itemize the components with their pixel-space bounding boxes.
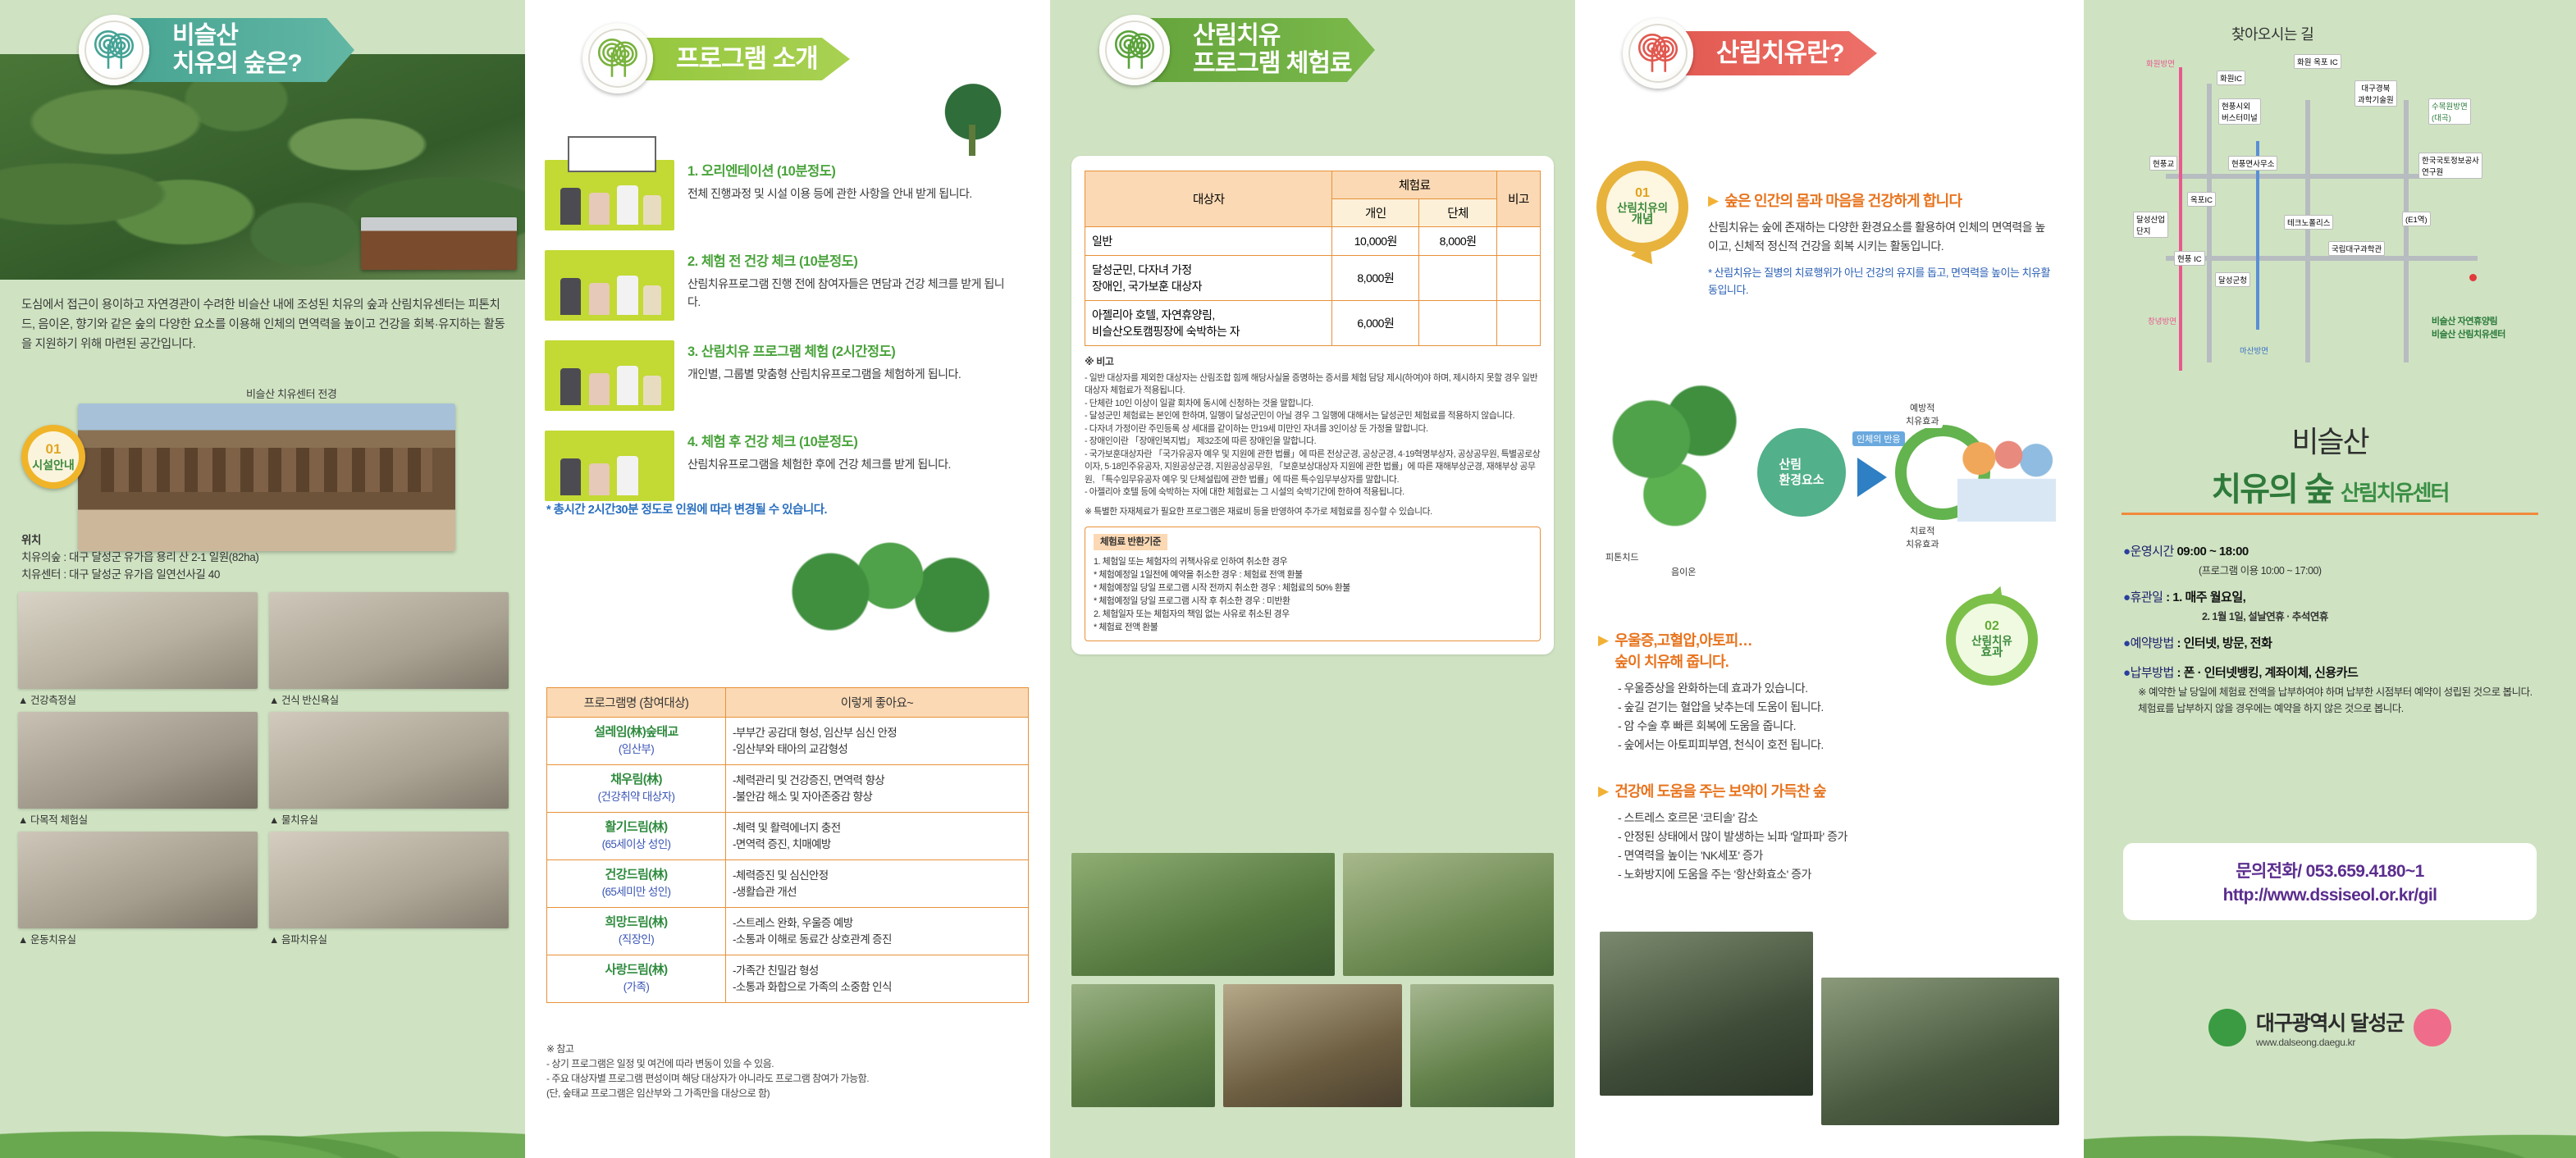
info-sub: (프로그램 이용 10:00 ~ 17:00) bbox=[2123, 563, 2542, 579]
map-label: 한국국토정보공사 연구원 bbox=[2418, 153, 2482, 179]
benefit-item: - 스트레스 호르몬 '코티솔' 감소 bbox=[1618, 809, 1967, 827]
program-table-header-benefit: 이렇게 좋아요~ bbox=[726, 688, 1029, 718]
tree-group-decor bbox=[771, 533, 1009, 640]
map-label: 국립대구과학관 bbox=[2328, 241, 2385, 256]
program-benefit: -불안감 해소 및 자아존중감 향상 bbox=[733, 789, 1021, 805]
refund-title: 체험료 반환기준 bbox=[1094, 534, 1167, 550]
fee-group bbox=[1419, 256, 1497, 301]
info-item: ●운영시간 09:00 ~ 18:00 (프로그램 이용 10:00 ~ 17:… bbox=[2123, 541, 2542, 579]
concept-note: * 산림치유는 질병의 치료행위가 아닌 건강의 유지를 돕고, 면역력을 높이… bbox=[1708, 264, 2053, 299]
facility-photo-grid: ▲ 건강측정실 ▲ 건식 반신욕실 ▲ 다목적 체험실 ▲ 물치유실 bbox=[18, 592, 509, 951]
info-item: ●예약방법 : 인터넷, 방문, 전화 bbox=[2123, 633, 2542, 654]
program-target: (임산부) bbox=[619, 743, 654, 755]
program-step: 2. 체험 전 건강 체크 (10분정도) 산림치유프로그램 진행 전에 참여자… bbox=[545, 250, 1012, 321]
map-label: 창녕방면 bbox=[2148, 315, 2176, 326]
diagram-trees bbox=[1605, 367, 1761, 572]
location-line-1: 치유의숲 : 대구 달성군 유가읍 용리 산 2-1 일원(82ha) bbox=[21, 549, 258, 566]
effect-item: - 우울증상을 완화하는데 효과가 있습니다. bbox=[1618, 679, 1943, 698]
building-photo bbox=[78, 403, 455, 551]
fee-remark bbox=[1496, 301, 1540, 346]
facility-caption: ▲ 건식 반신욕실 bbox=[269, 691, 509, 707]
gov-name: 대구광역시 달성군 bbox=[2256, 1007, 2404, 1037]
diagram-cycle-label: 치료적 치유효과 bbox=[1902, 523, 1943, 551]
info-sub: 2. 1월 1일, 설날연휴 · 추석연휴 bbox=[2123, 609, 2542, 625]
location-heading: 위치 bbox=[21, 531, 258, 549]
bullet-icon: ● bbox=[2123, 545, 2131, 558]
table-row: 일반 10,000원 8,000원 bbox=[1085, 227, 1541, 256]
map-title: 찾아오시는 길 bbox=[2231, 23, 2313, 44]
activity-photo bbox=[1071, 853, 1335, 976]
map-label: 화원방면 bbox=[2146, 57, 2175, 69]
program-benefit: -생활습관 개선 bbox=[733, 884, 1021, 900]
map-road bbox=[2207, 84, 2212, 362]
facility-item: ▲ 음파치유실 bbox=[269, 832, 509, 946]
info-label: 납부방법 bbox=[2131, 666, 2174, 680]
table-row: 희망드림(林) (직장인) -스트레스 완화, 우울증 예방 -소통과 이해로 … bbox=[547, 908, 1029, 955]
panel1-intro-text: 도심에서 접근이 용이하고 자연경관이 수려한 비슬산 내에 조성된 치유의 숲… bbox=[21, 295, 505, 354]
program-benefit: -소통과 이해로 동료간 상호관계 증진 bbox=[733, 932, 1021, 948]
fee-remark bbox=[1496, 227, 1540, 256]
fee-target: 달성군민, 다자녀 가정 장애인, 국가보훈 대상자 bbox=[1085, 256, 1332, 301]
map-label: 마산방면 bbox=[2240, 344, 2268, 356]
table-row: 건강드림(林) (65세미만 성인) -체력증진 및 심신안정 -생활습관 개선 bbox=[547, 860, 1029, 908]
benefit-item: - 면역력을 높이는 'NK세포' 증가 bbox=[1618, 846, 1967, 865]
fee-individual: 6,000원 bbox=[1332, 301, 1419, 346]
facility-photo bbox=[269, 592, 509, 689]
map-label: 수목원방면 (대곡) bbox=[2428, 98, 2471, 125]
concept-bubble: 01 산림치유의 개념 bbox=[1596, 161, 1688, 253]
info-value: : 인터넷, 방문, 전화 bbox=[2176, 636, 2272, 650]
fee-header-remark: 비고 bbox=[1496, 171, 1540, 227]
program-duration-note: * 총시간 2시간30분 정도로 인원에 따라 변경될 수 있습니다. bbox=[546, 500, 827, 517]
bullet-icon: ● bbox=[2123, 590, 2131, 604]
visitor-info-list: ●운영시간 09:00 ~ 18:00 (프로그램 이용 10:00 ~ 17:… bbox=[2123, 541, 2542, 717]
logo-badge-green bbox=[582, 23, 653, 93]
diagram-tag: 피톤치드 bbox=[1601, 549, 1642, 564]
program-benefit: -부부간 공감대 형성, 임산부 심신 안정 bbox=[733, 725, 1021, 741]
program-name: 사랑드림(林) bbox=[554, 961, 719, 978]
fee-header-individual: 개인 bbox=[1332, 199, 1419, 227]
footnote-line: ※ 참고 bbox=[546, 1042, 869, 1056]
panel-program-intro: 프로그램 소개 1. 오리엔테이션 (10분정도) 전체 진행과정 및 시설 이… bbox=[525, 0, 1050, 1158]
fee-individual: 8,000원 bbox=[1332, 256, 1419, 301]
activity-photo bbox=[1071, 984, 1215, 1107]
diagram-tag: 음이온 bbox=[1667, 564, 1700, 579]
effects-heading-row: ▶ 우울증,고혈압,아토피… 숲이 치유해 줍니다. bbox=[1598, 630, 1943, 672]
table-row: 활기드림(林) (65세이상 성인) -체력 및 활력에너지 충전 -면역력 증… bbox=[547, 813, 1029, 860]
program-target: (65세미만 성인) bbox=[602, 886, 671, 898]
effect-item: - 숲길 걷기는 혈압을 낮추는데 도움이 됩니다. bbox=[1618, 698, 1943, 717]
step-desc: 개인별, 그룹별 맞춤형 산림치유프로그램을 체험하게 됩니다. bbox=[687, 365, 1012, 383]
map-label: 달성산업 단지 bbox=[2133, 212, 2168, 238]
facility-caption: ▲ 운동치유실 bbox=[18, 931, 258, 946]
info-sub: ※ 예약한 날 당일에 체험료 전액을 납부하여야 하며 납부한 시점부터 예약… bbox=[2123, 684, 2542, 717]
triangle-marker-icon: ▶ bbox=[1598, 630, 1608, 651]
brand-block: 비슬산 치유의 숲 산림치유센터 bbox=[2084, 418, 2576, 510]
facility-photo bbox=[18, 592, 258, 689]
hero-forest-photo bbox=[0, 54, 525, 280]
map-destination-label: 비슬산 자연휴양림 비슬산 산림치유센터 bbox=[2432, 315, 2505, 341]
activity-photo bbox=[1410, 984, 1554, 1107]
footnote-line: - 주요 대상자별 프로그램 편성이며 해당 대상자가 아니라도 프로그램 참여… bbox=[546, 1071, 869, 1086]
map-road bbox=[2404, 100, 2409, 362]
contact-url[interactable]: http://www.dssiseol.or.kr/gil bbox=[2141, 886, 2519, 905]
panel-facility-intro: 비슬산 치유의 숲은? 도심에서 접근이 용이하고 자연경관이 수려한 비슬산 … bbox=[0, 0, 525, 1158]
location-line-2: 치유센터 : 대구 달성군 유가읍 일연선사길 40 bbox=[21, 566, 258, 583]
step-title: 1. 오리엔테이션 (10분정도) bbox=[687, 160, 1012, 180]
panel3-ribbon-line1: 산림치유 bbox=[1193, 22, 1375, 50]
fee-header-fee: 체험료 bbox=[1332, 171, 1497, 199]
facility-badge: 01 시설안내 bbox=[21, 425, 85, 489]
benefit-item: - 안정된 상태에서 많이 발생하는 뇌파 '알파파' 증가 bbox=[1618, 827, 1967, 846]
refund-line: * 체험예정일 1일전에 예약을 취소한 경우 : 체험료 전액 환불 bbox=[1094, 568, 1532, 581]
fee-table: 대상자 체험료 비고 개인 단체 일반 10,000원 8,000원 bbox=[1085, 171, 1541, 346]
fee-group bbox=[1419, 301, 1497, 346]
map-highway-pink bbox=[2179, 67, 2182, 371]
facility-photo bbox=[269, 712, 509, 809]
facility-item: ▲ 건식 반신욕실 bbox=[269, 592, 509, 707]
map-label: 화원 옥포 IC bbox=[2294, 54, 2341, 69]
building-caption: 비슬산 치유센터 전경 bbox=[246, 385, 336, 401]
panel3-ribbon-line2: 프로그램 체험료 bbox=[1193, 50, 1375, 78]
program-name: 설레임(林)숲태교 bbox=[554, 723, 719, 741]
step-illustration bbox=[545, 250, 674, 321]
diagram-cycle-label: 예방적 치유효과 bbox=[1902, 400, 1943, 428]
program-step: 4. 체험 후 건강 체크 (10분정도) 산림치유프로그램을 체험한 후에 건… bbox=[545, 431, 1012, 501]
refund-line: * 체험예정일 당일 프로그램 시작 전까지 취소한 경우 : 체험료의 50%… bbox=[1094, 581, 1532, 595]
facility-caption: ▲ 다목적 체험실 bbox=[18, 811, 258, 827]
program-target: (건강취약 대상자) bbox=[598, 791, 675, 803]
table-row: 설레임(林)숲태교 (임산부) -부부간 공감대 형성, 임산부 심신 안정 -… bbox=[547, 718, 1029, 765]
concept-body: 산림치유는 숲에 존재하는 다양한 환경요소를 활용하여 인체의 면역력을 높이… bbox=[1708, 218, 2053, 256]
panel-what-is-forest-healing: 산림치유란? 01 산림치유의 개념 ▶ 숲은 인간의 몸과 마음을 건강하게 … bbox=[1575, 0, 2084, 1158]
program-step-list: 1. 오리엔테이션 (10분정도) 전체 진행과정 및 시설 이용 등에 관한 … bbox=[545, 160, 1012, 521]
info-item: ●휴관일 : 1. 매주 월요일, 2. 1월 1일, 설날연휴 · 추석연휴 bbox=[2123, 587, 2542, 625]
footnote-line: - 상기 프로그램은 일정 및 여건에 따라 변동이 있을 수 있음. bbox=[546, 1056, 869, 1071]
step-title: 4. 체험 후 건강 체크 (10분정도) bbox=[687, 431, 1012, 450]
footer-hill-decor bbox=[0, 1107, 525, 1158]
panel1-ribbon-line2: 치유의 숲은? bbox=[172, 50, 354, 78]
fee-card: 대상자 체험료 비고 개인 단체 일반 10,000원 8,000원 bbox=[1071, 156, 1554, 654]
program-name: 채우림(林) bbox=[554, 771, 719, 788]
facility-photo bbox=[18, 712, 258, 809]
refund-line: * 체험료 전액 환불 bbox=[1094, 621, 1532, 634]
info-label: 예약방법 bbox=[2131, 636, 2174, 650]
map-label: 현풍면사무소 bbox=[2228, 156, 2277, 171]
step-desc: 산림치유프로그램을 체험한 후에 건강 체크를 받게 됩니다. bbox=[687, 455, 1012, 473]
table-row: 달성군민, 다자녀 가정 장애인, 국가보훈 대상자 8,000원 bbox=[1085, 256, 1541, 301]
benefits-heading: 건강에 도움을 주는 보약이 가득찬 숲 bbox=[1615, 781, 1825, 802]
activity-photo-grid bbox=[1071, 853, 1554, 1115]
fee-remark bbox=[1496, 256, 1540, 301]
panel2-ribbon-line1: 프로그램 소개 bbox=[676, 45, 850, 73]
facility-badge-label: 시설안내 bbox=[32, 458, 75, 472]
concept-section: ▶ 숲은 인간의 몸과 마음을 건강하게 합니다 산림치유는 숲에 존재하는 다… bbox=[1708, 190, 2053, 299]
program-benefit: -체력증진 및 심신안정 bbox=[733, 868, 1021, 884]
panel4-ribbon-line1: 산림치유란? bbox=[1716, 39, 1877, 67]
panel1-ribbon-line1: 비슬산 bbox=[172, 22, 354, 50]
map-label: 현풍교 bbox=[2149, 156, 2177, 171]
fee-note-line: - 장애인이란 「장애인복지법」 제32조에 따른 장애인을 말합니다. bbox=[1085, 435, 1541, 449]
contact-phone[interactable]: 문의전화/ 053.659.4180~1 bbox=[2141, 858, 2519, 882]
program-table-header-name: 프로그램명 (참여대상) bbox=[547, 688, 726, 718]
info-label: 휴관일 bbox=[2131, 590, 2163, 604]
map-label: 화원IC bbox=[2217, 71, 2245, 85]
info-value: : 1. 매주 월요일, bbox=[2166, 590, 2245, 604]
program-name: 건강드림(林) bbox=[554, 866, 719, 883]
effects-heading-line2: 숲이 치유해 줍니다. bbox=[1615, 651, 1752, 672]
contact-card: 문의전화/ 053.659.4180~1 http://www.dssiseol… bbox=[2123, 843, 2537, 920]
footer-hill-decor bbox=[2084, 1110, 2576, 1158]
fee-note-line: - 다자녀 가정이란 주민등록 상 세대를 같이하는 만19세 미만인 자녀를 … bbox=[1085, 423, 1541, 436]
program-footnotes: ※ 참고 - 상기 프로그램은 일정 및 여건에 따라 변동이 있을 수 있음.… bbox=[546, 1042, 869, 1101]
fee-group: 8,000원 bbox=[1419, 227, 1497, 256]
fee-note-line: - 단체란 10인 이상이 일괄 회차에 동시에 신청하는 것을 말합니다. bbox=[1085, 398, 1541, 411]
program-target: (가족) bbox=[623, 981, 649, 993]
fee-special-note: ※ 특별한 자재체료가 필요한 프로그램은 재료비 등을 반영하여 추가로 체험… bbox=[1085, 506, 1541, 519]
step-title: 3. 산림치유 프로그램 체험 (2시간정도) bbox=[687, 340, 1012, 360]
table-row: 채우림(林) (건강취약 대상자) -체력관리 및 건강증진, 면역력 향상 -… bbox=[547, 765, 1029, 813]
map-label: 현풍시외 버스터미널 bbox=[2218, 98, 2261, 125]
activity-photo bbox=[1821, 978, 2059, 1125]
map-label: 옥포IC bbox=[2187, 192, 2216, 207]
concept-heading-row: ▶ 숲은 인간의 몸과 마음을 건강하게 합니다 bbox=[1708, 190, 2053, 212]
activity-photo bbox=[1223, 984, 1402, 1107]
map-road bbox=[2166, 256, 2478, 261]
step-illustration bbox=[545, 160, 674, 230]
facility-item: ▲ 다목적 체험실 bbox=[18, 712, 258, 827]
location-map: 화원방면 화원 옥포 IC 화원IC 대구경북 과학기술원 현풍시외 버스터미널… bbox=[2133, 51, 2510, 395]
logo-badge-darkgreen bbox=[1099, 15, 1170, 85]
map-label: 현풍 IC bbox=[2174, 251, 2205, 266]
table-row: 아젤리아 호텔, 자연휴양림, 비슬산오토캠핑장에 숙박하는 자 6,000원 bbox=[1085, 301, 1541, 346]
program-name: 희망드림(林) bbox=[554, 914, 719, 931]
diagram-arrow-icon bbox=[1857, 458, 1887, 497]
map-label: 테크노폴리스 bbox=[2284, 215, 2333, 230]
facility-item: ▲ 운동치유실 bbox=[18, 832, 258, 946]
diagram-family-illustration bbox=[1957, 431, 2056, 522]
facility-caption: ▲ 건강측정실 bbox=[18, 691, 258, 707]
brand-line1: 비슬산 bbox=[2084, 418, 2576, 461]
info-label: 운영시간 bbox=[2131, 545, 2174, 558]
step-illustration bbox=[545, 340, 674, 411]
bullet-icon: ● bbox=[2123, 666, 2131, 680]
concept-bubble-num: 01 bbox=[1635, 187, 1650, 201]
dalseong-logo-icon bbox=[2208, 1009, 2246, 1046]
brand-line2-main: 치유의 숲 bbox=[2212, 472, 2333, 508]
step-illustration bbox=[545, 431, 674, 501]
triangle-marker-icon: ▶ bbox=[1708, 190, 1718, 212]
panel-experience-fee: 산림치유 프로그램 체험료 대상자 체험료 비고 개인 단체 bbox=[1050, 0, 1575, 1158]
info-value: : 폰 · 인터넷뱅킹, 계좌이체, 신용카드 bbox=[2176, 666, 2358, 680]
concept-bubble-line2: 개념 bbox=[1632, 214, 1654, 226]
facility-caption: ▲ 물치유실 bbox=[269, 811, 509, 827]
fee-header-group: 단체 bbox=[1419, 199, 1497, 227]
program-benefit: -임산부와 태아의 교감형성 bbox=[733, 741, 1021, 758]
gov-url: www.dalseong.daegu.kr bbox=[2256, 1037, 2404, 1048]
logo-badge-red bbox=[1623, 18, 1693, 89]
map-label: 달성군청 bbox=[2215, 272, 2250, 287]
refund-line: * 체험예정일 당일 프로그램 시작 후 취소한 경우 : 미반환 bbox=[1094, 595, 1532, 608]
map-destination-pin bbox=[2469, 274, 2477, 281]
effect-bubble-num: 02 bbox=[1985, 620, 1999, 634]
refund-line: 2. 체험일자 또는 체험자의 책임 없는 사유로 취소된 경우 bbox=[1094, 608, 1532, 621]
effect-bubble-line2: 효과 bbox=[1981, 647, 2003, 659]
step-desc: 산림치유프로그램 진행 전에 참여자들은 면담과 건강 체크를 받게 됩니다. bbox=[687, 275, 1012, 311]
program-table: 프로그램명 (참여대상) 이렇게 좋아요~ 설레임(林)숲태교 (임산부) -부… bbox=[546, 687, 1029, 1003]
info-item: ●납부방법 : 폰 · 인터넷뱅킹, 계좌이체, 신용카드 ※ 예약한 날 당일… bbox=[2123, 663, 2542, 717]
brand-line2-sub: 산림치유센터 bbox=[2341, 481, 2449, 505]
fee-note-line: - 달성군민 체험료는 본인에 한하며, 일행이 달성군민이 아닐 경우 그 일… bbox=[1085, 410, 1541, 423]
effect-item: - 숲에서는 아토피피부염, 천식이 호전 됩니다. bbox=[1618, 736, 1943, 755]
program-benefit: -면역력 증진, 치매예방 bbox=[733, 837, 1021, 853]
map-label: 대구경북 과학기술원 bbox=[2354, 80, 2397, 107]
facility-item: ▲ 물치유실 bbox=[269, 712, 509, 827]
brochure-sheet: 비슬산 치유의 숲은? 도심에서 접근이 용이하고 자연경관이 수려한 비슬산 … bbox=[0, 0, 2576, 1158]
info-value: 09:00 ~ 18:00 bbox=[2176, 545, 2248, 558]
concept-bubble-line1: 산림치유의 bbox=[1617, 203, 1668, 214]
fee-target: 일반 bbox=[1085, 227, 1332, 256]
program-benefit: -체력 및 활력에너지 충전 bbox=[733, 820, 1021, 837]
table-row: 사랑드림(林) (가족) -가족간 친밀감 형성 -소통과 화합으로 가족의 소… bbox=[547, 955, 1029, 1003]
fee-note-line: - 국가보훈대상자란 「국가유공자 예우 및 지원에 관한 법률」에 따른 전상… bbox=[1085, 449, 1541, 487]
map-label: (E1역) bbox=[2402, 212, 2431, 226]
healing-diagram: 피톤치드 음이온 산림 환경요소 인체의 반응 예방적 치유효과 치료적 치유효… bbox=[1596, 353, 2061, 607]
facility-photo bbox=[18, 832, 258, 928]
bullet-icon: ● bbox=[2123, 636, 2131, 650]
program-name: 활기드림(林) bbox=[554, 818, 719, 836]
diagram-arrow-label: 인체의 반응 bbox=[1852, 431, 1905, 446]
effect-item: - 암 수술 후 빠른 회복에 도움을 줍니다. bbox=[1618, 717, 1943, 736]
benefit-item: - 노화방지에 도움을 주는 '항산화효소' 증가 bbox=[1618, 865, 1967, 884]
step-title: 2. 체험 전 건강 체크 (10분정도) bbox=[687, 250, 1012, 270]
program-benefit: -소통과 화합으로 가족의 소중함 인식 bbox=[733, 979, 1021, 996]
refund-policy-box: 체험료 반환기준 1. 체험일 또는 체험자의 귀책사유로 인하여 취소한 경우… bbox=[1085, 527, 1541, 641]
facility-badge-num: 01 bbox=[46, 442, 62, 456]
triangle-marker-icon: ▶ bbox=[1598, 781, 1608, 802]
tree-decor-icon bbox=[934, 79, 1012, 157]
fee-target: 아젤리아 호텔, 자연휴양림, 비슬산오토캠핑장에 숙박하는 자 bbox=[1085, 301, 1332, 346]
panel-directions-contact: 찾아오시는 길 화원방면 화원 옥포 IC 화원IC 대구경북 과학기술원 현풍… bbox=[2084, 0, 2576, 1158]
step-desc: 전체 진행과정 및 시설 이용 등에 관한 사항을 안내 받게 됩니다. bbox=[687, 185, 1012, 203]
government-logo-block: 대구광역시 달성군 www.dalseong.daegu.kr bbox=[2084, 1007, 2576, 1048]
facility-photo bbox=[269, 832, 509, 928]
activity-photo bbox=[1343, 853, 1554, 976]
program-benefit: -가족간 친밀감 형성 bbox=[733, 963, 1021, 979]
mascot-icon bbox=[2414, 1009, 2451, 1046]
fee-notes-title: ※ 비고 bbox=[1085, 356, 1541, 369]
program-step: 3. 산림치유 프로그램 체험 (2시간정도) 개인별, 그룹별 맞춤형 산림치… bbox=[545, 340, 1012, 411]
program-target: (직장인) bbox=[619, 933, 654, 946]
program-benefit: -스트레스 완화, 우울증 예방 bbox=[733, 915, 1021, 932]
fee-header-target: 대상자 bbox=[1085, 171, 1332, 227]
effects-heading-line1: 우울증,고혈압,아토피… bbox=[1615, 630, 1752, 651]
benefits-heading-row: ▶ 건강에 도움을 주는 보약이 가득찬 숲 bbox=[1598, 781, 1967, 802]
fee-notes: ※ 비고 - 일반 대상자를 제외한 대상자는 산림조합 힘께 해당사실을 증명… bbox=[1085, 356, 1541, 518]
footnote-line: (단, 숲태교 프로그램은 임산부와 그 가족만을 대상으로 함) bbox=[546, 1086, 869, 1101]
diagram-center-label: 산림 환경요소 bbox=[1757, 428, 1846, 517]
brand-divider bbox=[2122, 513, 2538, 515]
refund-line: 1. 체험일 또는 체험자의 귀책사유로 인하여 취소한 경우 bbox=[1094, 555, 1532, 568]
effect-bubble: 02 산림치유 효과 bbox=[1946, 594, 2038, 686]
facility-caption: ▲ 음파치유실 bbox=[269, 931, 509, 946]
health-benefits-section: ▶ 건강에 도움을 주는 보약이 가득찬 숲 - 스트레스 호르몬 '코티솔' … bbox=[1598, 781, 1967, 884]
activity-photo bbox=[1600, 932, 1813, 1096]
program-benefit: -체력관리 및 건강증진, 면역력 향상 bbox=[733, 773, 1021, 789]
program-step: 1. 오리엔테이션 (10분정도) 전체 진행과정 및 시설 이용 등에 관한 … bbox=[545, 160, 1012, 230]
fee-individual: 10,000원 bbox=[1332, 227, 1419, 256]
logo-badge-teal bbox=[79, 15, 149, 85]
map-road bbox=[2305, 100, 2310, 362]
effect-bubble-line1: 산림치유 bbox=[1971, 636, 2012, 647]
healing-effects-section: ▶ 우울증,고혈압,아토피… 숲이 치유해 줍니다. - 우울증상을 완화하는데… bbox=[1598, 630, 1943, 755]
concept-heading: 숲은 인간의 몸과 마음을 건강하게 합니다 bbox=[1724, 190, 1962, 212]
fee-note-line: - 일반 대상자를 제외한 대상자는 산림조합 힘께 해당사실을 증명하는 증서… bbox=[1085, 372, 1541, 398]
location-block: 위치 치유의숲 : 대구 달성군 유가읍 용리 산 2-1 일원(82ha) 치… bbox=[21, 531, 258, 583]
facility-item: ▲ 건강측정실 bbox=[18, 592, 258, 707]
fee-note-line: - 아젤리아 호텔 등에 숙박하는 자에 대한 체험료는 그 시설의 숙박기간에… bbox=[1085, 486, 1541, 499]
program-target: (65세이상 성인) bbox=[602, 838, 671, 850]
